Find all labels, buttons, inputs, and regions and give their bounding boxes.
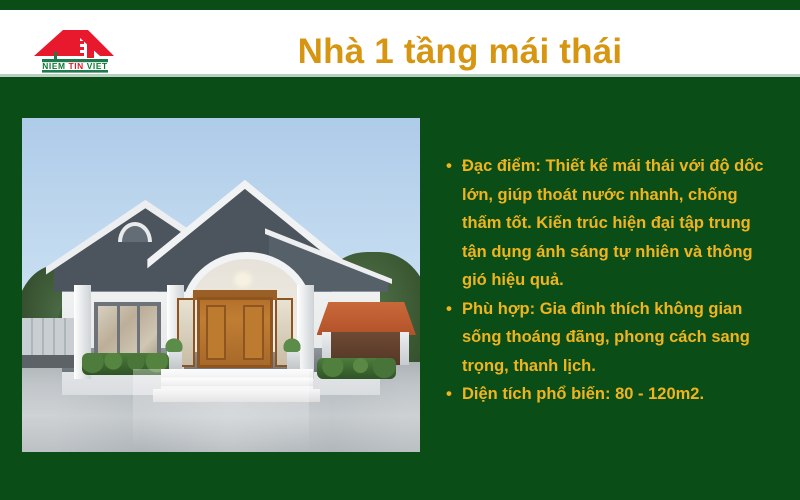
house-photo bbox=[22, 118, 420, 452]
side-pavilion-roof bbox=[317, 302, 417, 335]
driveway-sheen bbox=[133, 369, 308, 453]
top-green-strip bbox=[0, 0, 800, 10]
slide-root: NIEM TIN VIET Nhà 1 tầng mái thái bbox=[0, 0, 800, 500]
house-photo-canvas bbox=[22, 118, 420, 452]
header-divider bbox=[0, 74, 800, 77]
front-door bbox=[197, 297, 273, 369]
feature-list: Đạc điểm: Thiết kế mái thái với độ dốc l… bbox=[443, 152, 779, 409]
feature-list-items: Đạc điểm: Thiết kế mái thái với độ dốc l… bbox=[443, 152, 779, 409]
porch-light-icon bbox=[237, 275, 249, 284]
list-item: Đạc điểm: Thiết kế mái thái với độ dốc l… bbox=[462, 152, 779, 295]
niem-tin-viet-logo: NIEM TIN VIET bbox=[30, 24, 130, 80]
side-pavilion-column-right bbox=[400, 332, 409, 365]
slide-header: NIEM TIN VIET Nhà 1 tầng mái thái bbox=[0, 10, 800, 74]
list-item: Diện tích phổ biến: 80 - 120m2. bbox=[462, 380, 779, 409]
boundary-fence-base bbox=[22, 355, 74, 368]
hedge-right bbox=[317, 358, 397, 378]
list-item: Phù hợp: Gia đình thích không gian sống … bbox=[462, 295, 779, 381]
svg-text:NIEM TIN VIET: NIEM TIN VIET bbox=[42, 61, 108, 71]
